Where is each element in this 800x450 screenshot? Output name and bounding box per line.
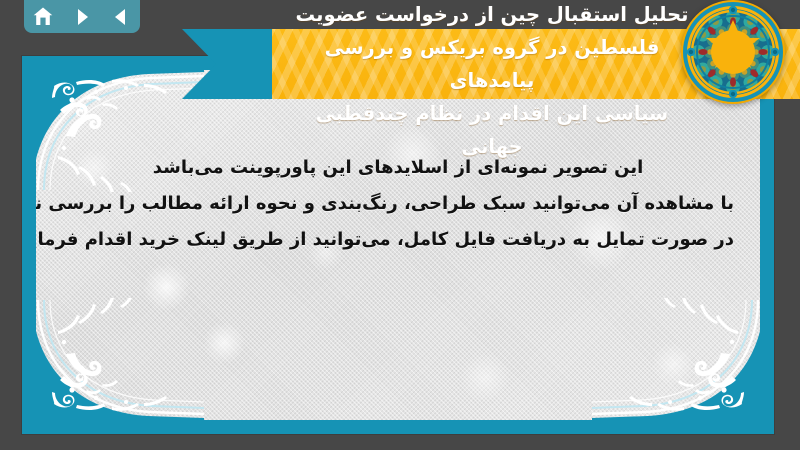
page-title: تحلیل استقبال چین از درخواست عضویت فلسطی…: [292, 0, 692, 163]
body-line: با مشاهده آن می‌توانید سبک طراحی، رنگ‌بن…: [62, 186, 734, 222]
arabesque-corner-bottom-left: [36, 298, 204, 420]
slide-viewer: این تصویر نمونه‌ای از اسلایدهای این پاور…: [0, 0, 800, 450]
arabesque-corner-bottom-right: [592, 298, 760, 420]
body-line: در صورت تمایل به دریافت فایل کامل، می‌تو…: [62, 222, 734, 258]
ornamental-medallion-icon: [679, 0, 787, 106]
slide-body-text: این تصویر نمونه‌ای از اسلایدهای این پاور…: [36, 150, 760, 258]
home-button[interactable]: [28, 4, 58, 30]
back-button[interactable]: [106, 4, 136, 30]
triangle-left-icon: [112, 8, 129, 26]
forward-button[interactable]: [67, 4, 97, 30]
home-icon: [33, 7, 53, 26]
triangle-right-icon: [74, 8, 91, 26]
navigation-bar: [24, 0, 140, 33]
